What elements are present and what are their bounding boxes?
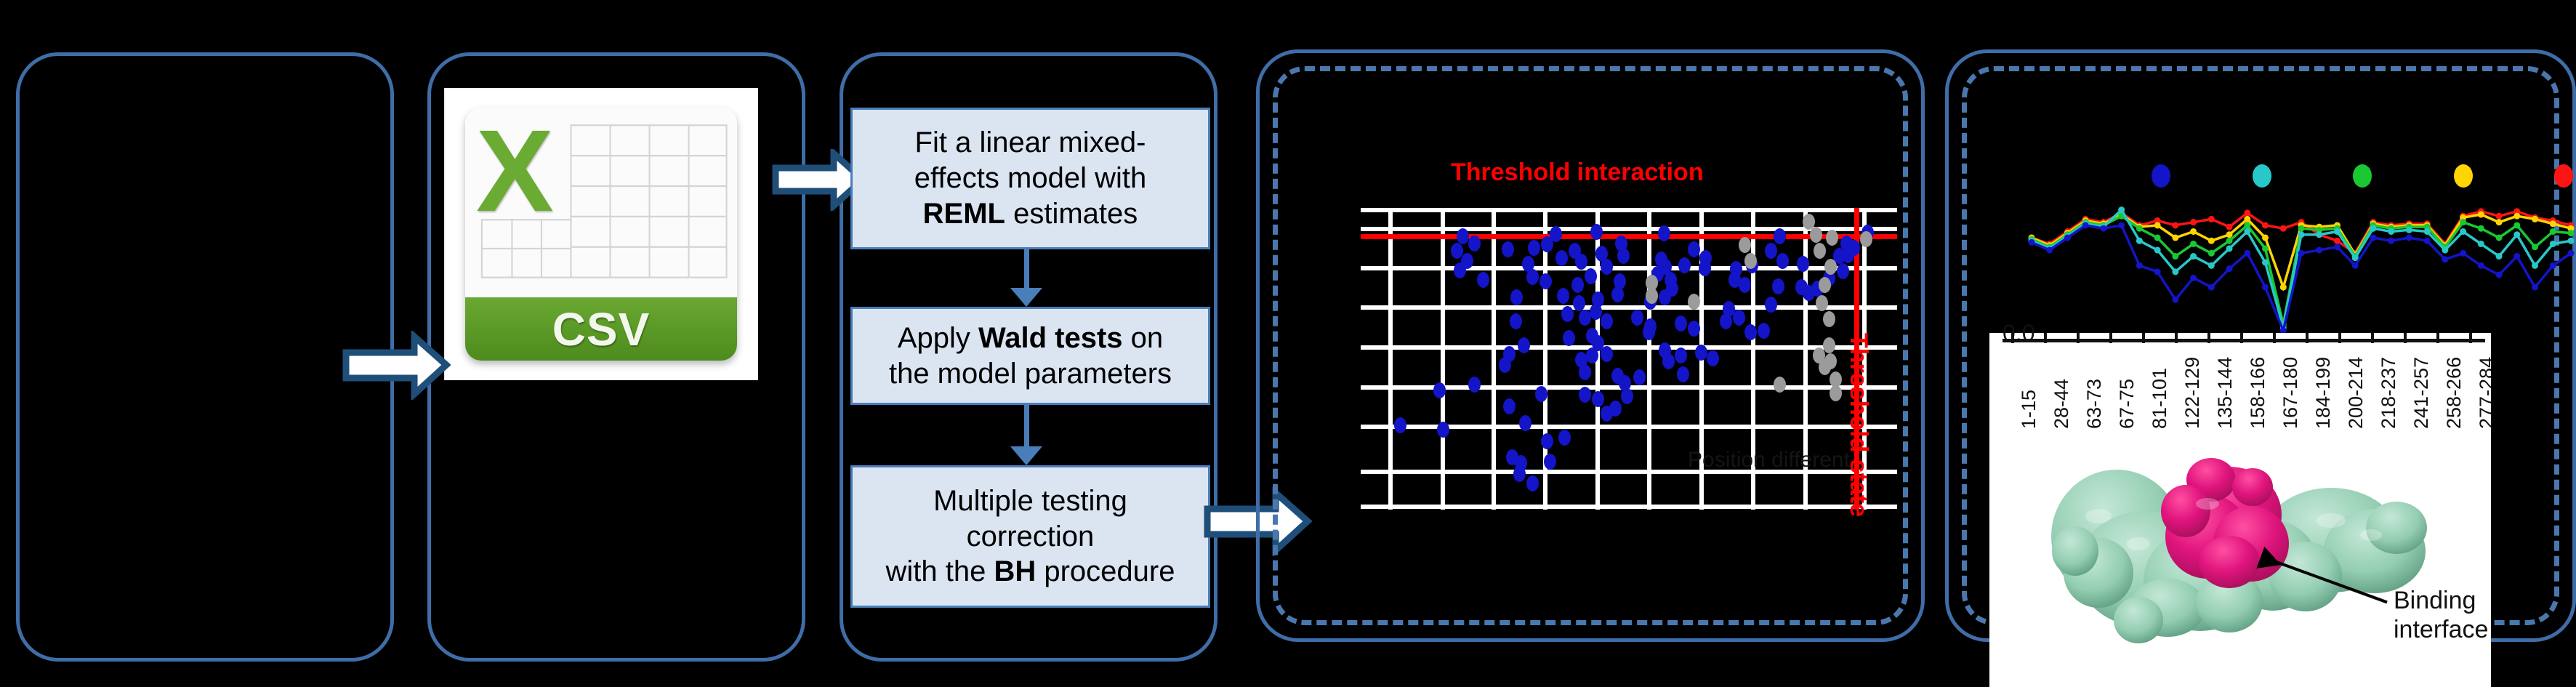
x-axis-tick [2306,333,2309,343]
uptake-point [2208,216,2215,222]
volcano-gridline-h [1361,208,1897,212]
bh-line-1: Multiple testing [933,485,1127,517]
uptake-point [2172,234,2178,241]
uptake-point [2496,272,2503,278]
uptake-point [2172,222,2178,228]
uptake-point [2550,228,2556,235]
uptake-point [2496,219,2503,225]
uptake-point [2190,275,2197,281]
fit-model-line-1: Fit a linear mixed- [915,126,1146,158]
peptide-tick-label: 167-180 [2279,357,2302,429]
uptake-point [2262,234,2269,241]
uptake-point [2352,262,2359,269]
uptake-point [2388,238,2394,244]
uptake-point [2388,228,2394,235]
uptake-point [2208,284,2215,291]
uptake-point [2478,225,2484,232]
binding-interface-line-1: Binding [2394,587,2476,614]
uptake-point [2280,284,2287,291]
x-axis-tick [2273,333,2276,343]
uptake-point [2262,284,2269,291]
x-axis-tick [2044,333,2047,343]
legend-dot-t1 [2152,164,2170,188]
uptake-point [2496,213,2503,220]
uptake-point [2262,260,2269,266]
peptide-tick-label: 1-15 [2018,390,2040,429]
uptake-point [2064,234,2071,241]
peptide-tick-label: 81-101 [2149,368,2171,429]
uptake-point [2244,228,2250,235]
bh-line-2: correction [967,521,1095,553]
uptake-point [2136,262,2143,269]
uptake-point [2550,262,2556,269]
uptake-point [2172,253,2178,260]
peptide-tick-label: 135-144 [2214,357,2237,429]
uptake-point [2226,265,2233,272]
x-axis-tick [2175,333,2178,343]
uptake-point [2316,231,2322,238]
uptake-point [2442,256,2448,262]
peptide-tick-label: 28-44 [2050,379,2073,429]
x-axis-tick [2077,333,2080,343]
wald-line-2: the model parameters [889,358,1172,390]
peptide-tick-label: 158-166 [2247,357,2269,429]
volcano-gridline-v [1441,208,1445,510]
uptake-point [2298,231,2305,238]
uptake-point [2532,284,2538,291]
csv-extension-band: CSV [465,297,737,361]
peptide-tick-label: 241-257 [2410,357,2433,429]
uptake-point [2208,262,2215,269]
uptake-point [2406,234,2412,241]
uptake-line-chart [2003,196,2576,338]
uptake-point [2496,253,2503,260]
uptake-point [2190,228,2197,235]
wald-tests-box: Apply Wald tests on the model parameters [850,307,1210,405]
arrow-into-data-icon [342,331,451,400]
uptake-point [2550,220,2556,227]
uptake-point [2226,245,2233,252]
uptake-point [2513,231,2520,238]
volcano-axis-faint-text: Position different [1688,448,1850,473]
excel-x-letter-icon: X [476,113,585,254]
y-axis-tick-label: 0.0 [2003,320,2034,347]
uptake-point [2316,247,2322,254]
uptake-point [2478,212,2484,218]
x-axis-tick [2109,333,2112,343]
wald-line-1-suffix: on [1123,322,1164,354]
uptake-point [2568,250,2575,257]
legend-dot-t4 [2454,164,2473,188]
uptake-point [2568,238,2575,244]
peptide-tick-label: 200-214 [2345,357,2367,429]
uptake-point [2370,234,2376,241]
uptake-point [2172,268,2178,275]
csv-extension-label: CSV [552,302,651,356]
uptake-point [2532,262,2538,269]
uptake-point [2334,238,2340,244]
uptake-point [2298,225,2305,232]
uptake-point [2262,222,2269,228]
x-axis-tick [2338,333,2341,343]
peptide-tick-label: 67-75 [2116,379,2138,429]
uptake-point [2460,250,2466,257]
peptide-tick-label: 184-199 [2312,357,2335,429]
uptake-point [2029,239,2035,246]
uptake-point [2244,216,2250,222]
x-axis-tick [2404,333,2407,343]
uptake-point [2280,225,2287,232]
x-axis-tick [2240,333,2243,343]
connector-fit-to-wald [1024,249,1029,292]
fit-model-box: Fit a linear mixed- effects model with R… [850,108,1210,249]
volcano-gridline-h [1361,505,1897,509]
workflow-diagram: X CSV Fit a linear mixed- effects model … [0,0,2576,687]
protein-surface [1989,435,2491,687]
connector-wald-to-bh [1024,405,1029,450]
stage-1-empty-panel [16,52,394,662]
bh-correction-box: Multiple testing correction with the BH … [850,465,1210,608]
uptake-point [2190,219,2197,225]
x-axis-tick [2371,333,2374,343]
peptide-tick-label: 258-266 [2443,357,2466,429]
uptake-point [2154,222,2161,228]
binding-interface-line-2: interface [2394,616,2488,643]
fit-model-line-3-suffix: estimates [1005,198,1138,230]
uptake-point [2226,231,2233,238]
x-axis-tick [2142,333,2145,343]
csv-icon-body: X CSV [465,108,737,361]
volcano-gridline-v [1492,208,1496,510]
threshold-interaction-label: Threshold interaction [1451,158,1704,187]
connector-arrow-fit-to-wald-icon [1010,288,1042,307]
uptake-point [2208,250,2215,257]
uptake-point [2478,241,2484,247]
uptake-point [2298,250,2305,257]
threshold-state-label: Threshold state [1844,333,1872,517]
peptide-axis-card: 1-1528-4463-7367-7581-101122-129135-1441… [1989,333,2491,435]
uptake-point [2496,234,2503,241]
x-axis-line [2003,339,2485,342]
volcano-gridline-v [1388,208,1393,510]
uptake-point [2154,268,2161,275]
uptake-point [2046,247,2053,254]
uptake-point [2334,244,2340,250]
uptake-point [2226,224,2233,230]
uptake-point [2532,244,2538,250]
bh-line-3-suffix: procedure [1036,555,1175,587]
x-axis-tick [2469,333,2472,343]
uptake-point [2190,241,2197,247]
uptake-point [2082,222,2089,228]
uptake-point [2513,222,2520,228]
x-axis-tick [2436,333,2439,343]
uptake-point [2568,230,2575,236]
uptake-point [2208,238,2215,244]
uptake-point [2244,209,2250,216]
fit-model-line-2: effects model with [914,162,1146,194]
legend-dot-t5 [2554,164,2573,188]
peptide-tick-label: 122-129 [2181,357,2204,429]
connector-arrow-wald-to-bh-icon [1010,446,1042,465]
x-axis-tick [2207,333,2210,343]
volcano-gridline-h [1361,266,1897,270]
uptake-point [2154,247,2161,254]
csv-file-icon: X CSV [445,89,757,379]
uptake-point [2370,225,2376,232]
uptake-point [2118,222,2125,228]
uptake-point [2334,228,2340,235]
legend-dot-t2 [2253,164,2271,188]
peptide-tick-label: 63-73 [2083,379,2106,429]
peptide-tick-label: 277-284 [2476,357,2491,429]
protein-structure-card: Binding interface [1989,435,2491,687]
uptake-point [2262,245,2269,252]
uptake-point [2550,241,2556,247]
bh-term: BH [994,555,1036,587]
uptake-point [2513,253,2520,260]
uptake-point [2513,213,2520,220]
uptake-point [2154,234,2161,241]
uptake-point [2244,222,2250,228]
uptake-point [2424,228,2431,235]
volcano-plot: Position different [1361,208,1897,510]
uptake-point [2442,247,2448,254]
wald-term: Wald tests [978,322,1123,354]
legend-dot-t3 [2353,164,2372,188]
uptake-point [2424,238,2431,244]
uptake-legend [2152,164,2573,188]
uptake-point [2190,253,2197,260]
uptake-point [2244,250,2250,257]
volcano-gridline-v [1647,208,1651,510]
uptake-point [2136,225,2143,232]
uptake-point [2136,238,2143,244]
uptake-point [2100,225,2106,232]
uptake-point [2226,238,2233,244]
wald-line-1-prefix: Apply [898,322,978,354]
peptide-tick-label: 218-237 [2378,357,2400,429]
uptake-point [2460,228,2466,235]
binding-interface-annotation: Binding interface [2394,586,2488,644]
uptake-point [2532,216,2538,222]
uptake-point [2478,262,2484,269]
uptake-point [2406,227,2412,233]
uptake-point [2460,219,2466,225]
fit-model-reml-term: REML [923,198,1005,230]
uptake-point [2172,297,2178,303]
uptake-point [2118,206,2125,213]
bh-line-3-prefix: with the [886,555,994,587]
